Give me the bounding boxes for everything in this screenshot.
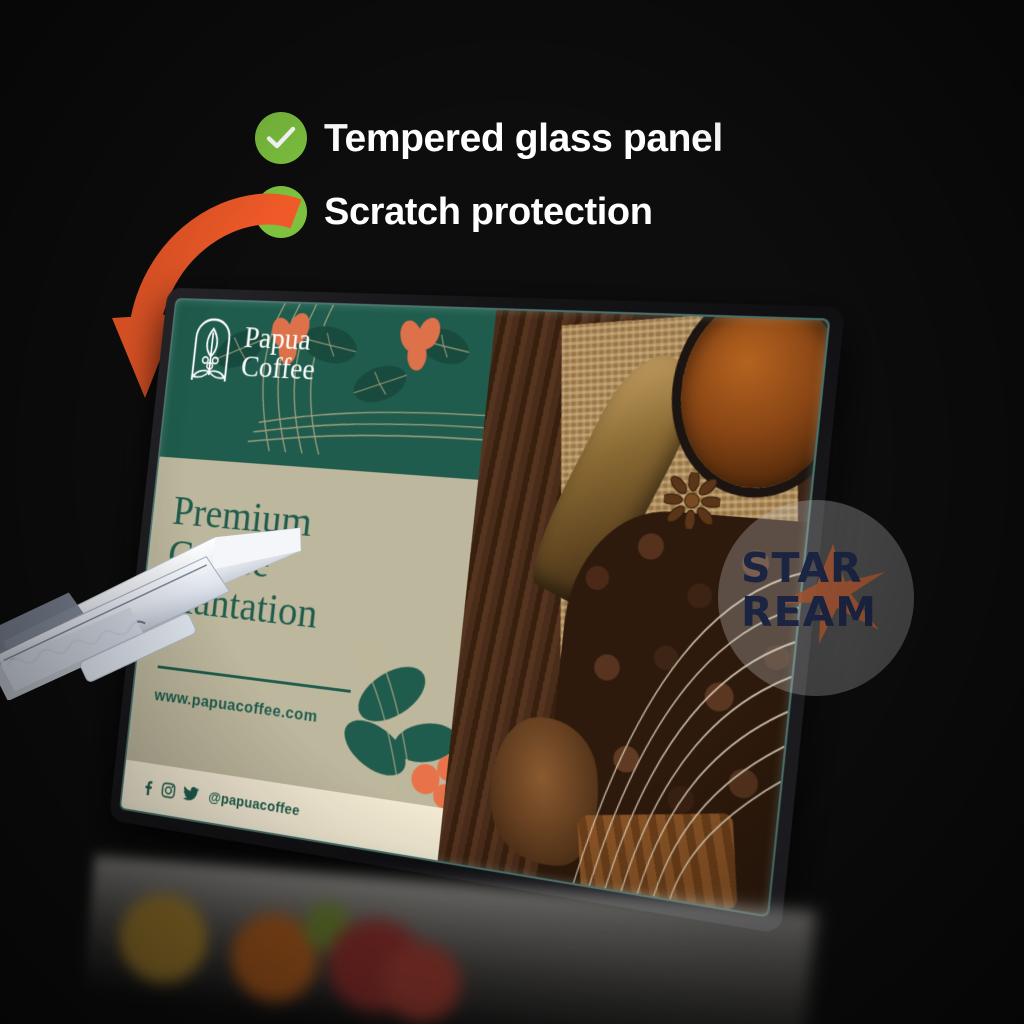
check-circle-icon	[255, 112, 307, 164]
feature-label: Scratch protection	[324, 193, 653, 231]
twitter-icon	[182, 785, 199, 804]
box-cutter-icon	[0, 520, 342, 700]
social-handle: @papuacoffee	[208, 789, 301, 820]
poster-header-band: Papua Coffee	[160, 300, 497, 480]
coffee-plant-emblem-icon	[186, 317, 238, 384]
social-icons	[140, 778, 199, 803]
watermark-line-1: STAR	[741, 548, 891, 589]
brand-line-2: Coffee	[240, 352, 317, 385]
scene: Tempered glass panel Scratch protection	[0, 0, 1024, 1024]
watermark: STAR REAM	[718, 500, 914, 696]
feature-item: Scratch protection	[255, 186, 875, 238]
instagram-icon	[161, 782, 177, 800]
facebook-icon	[140, 778, 155, 796]
brand-logo: Papua Coffee	[186, 317, 320, 388]
feature-item: Tempered glass panel	[255, 112, 875, 164]
watermark-line-2: REAM	[741, 592, 891, 633]
star-anise-icon	[661, 470, 723, 531]
feature-label: Tempered glass panel	[324, 119, 723, 158]
feature-list: Tempered glass panel Scratch protection	[255, 112, 875, 260]
brand-name: Papua Coffee	[240, 323, 320, 385]
